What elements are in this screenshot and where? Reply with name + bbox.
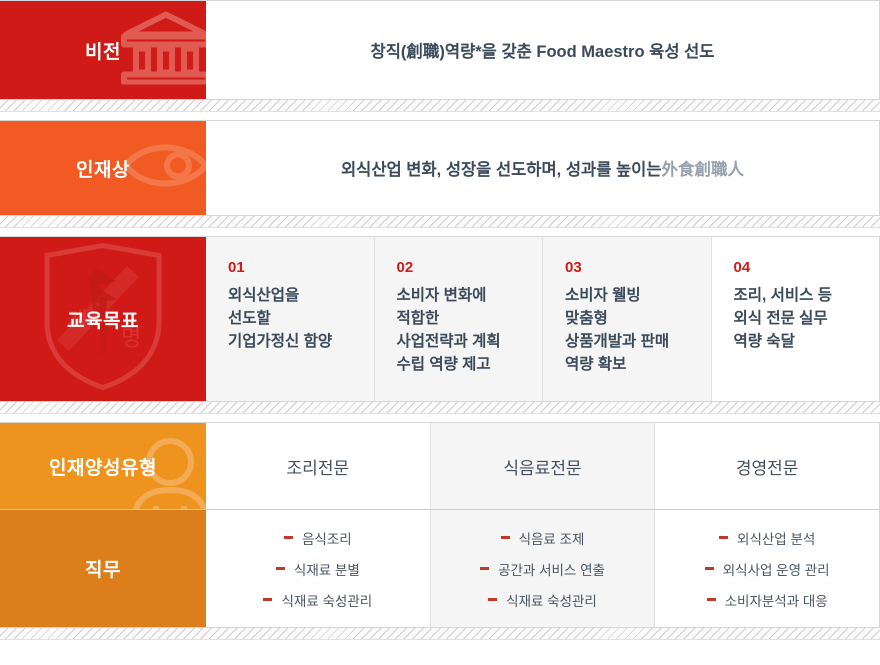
talent-profile-row: 인재상 외식산업 변화, 성장을 선도하며, 성과를 높이는 外食創職人 [0, 120, 880, 216]
duty-item: 소비자분석과 대응 [707, 590, 828, 610]
types-and-duties-block: 인재양성유형 조리전문 식음료전문 경영전문 직무 [0, 422, 880, 628]
bank-building-icon [120, 11, 206, 90]
dash-bullet-icon [705, 567, 714, 570]
vision-row: 비전 창직(創職)역량*을 갖춘 Food Maestro 육성 선도 [0, 0, 880, 100]
competency-framework-diagram: 비전 창직(創職)역량*을 갖춘 Food Maestro 육성 선도 인재상 … [0, 0, 880, 665]
education-goals-row: 계 명 교육목표 01 외식산업을 선도할 기업가정신 함양 02 소비자 변화… [0, 236, 880, 402]
talent-types-row: 인재양성유형 조리전문 식음료전문 경영전문 [0, 423, 879, 509]
talent-types-label-cell: 인재양성유형 [0, 423, 206, 509]
duties-row: 직무 음식조리 식재료 분별 식재료 숙성관리 [0, 509, 879, 627]
education-goals-label: 교육목표 [67, 306, 139, 333]
education-goals-label-cell: 계 명 교육목표 [0, 237, 206, 401]
talent-type-label: 조리전문 [287, 454, 350, 479]
talent-profile-statement-text: 외식산업 변화, 성장을 선도하며, 성과를 높이는 [341, 156, 662, 180]
goal-number: 01 [228, 259, 358, 276]
talent-types-list: 조리전문 식음료전문 경영전문 [206, 423, 879, 509]
dash-bullet-icon [719, 536, 728, 539]
vision-label: 비전 [85, 37, 121, 64]
row-separator-hatch-3 [0, 402, 880, 414]
talent-type-cell: 경영전문 [655, 423, 879, 509]
goal-text: 조리, 서비스 등 외식 전문 실무 역량 숙달 [734, 285, 864, 354]
dash-bullet-icon [284, 536, 293, 539]
talent-profile-label-cell: 인재상 [0, 121, 206, 215]
dash-bullet-icon [488, 598, 497, 601]
talent-type-label: 식음료전문 [503, 454, 581, 479]
duty-label: 식음료 조제 [519, 528, 585, 548]
talent-profile-statement-hanja: 外食創職人 [662, 156, 745, 180]
duty-label: 식재료 숙성관리 [281, 590, 372, 610]
talent-type-cell: 조리전문 [206, 423, 431, 509]
duty-column: 외식산업 분석 외식사업 운영 관리 소비자분석과 대응 [655, 510, 879, 627]
duty-label: 소비자분석과 대응 [725, 590, 828, 610]
duty-item: 음식조리 [284, 528, 352, 548]
duty-label: 식재료 분별 [294, 559, 360, 579]
talent-profile-statement: 외식산업 변화, 성장을 선도하며, 성과를 높이는 外食創職人 [206, 121, 879, 215]
duties-label: 직무 [85, 555, 121, 582]
goal-text: 소비자 변화에 적합한 사업전략과 계획 수립 역량 제고 [397, 285, 527, 377]
duty-column: 식음료 조제 공간과 서비스 연출 식재료 숙성관리 [431, 510, 656, 627]
duty-item: 공간과 서비스 연출 [480, 559, 605, 579]
education-goals-list: 01 외식산업을 선도할 기업가정신 함양 02 소비자 변화에 적합한 사업전… [206, 237, 879, 401]
dash-bullet-icon [480, 567, 489, 570]
duty-label: 외식사업 운영 관리 [723, 559, 830, 579]
row-gap-2 [0, 228, 880, 236]
duty-label: 음식조리 [302, 528, 352, 548]
goal-item: 03 소비자 웰빙 맞춤형 상품개발과 판매 역량 확보 [543, 237, 712, 401]
duty-label: 공간과 서비스 연출 [498, 559, 605, 579]
goal-item: 04 조리, 서비스 등 외식 전문 실무 역량 숙달 [712, 237, 880, 401]
duty-item: 식음료 조제 [501, 528, 585, 548]
vision-label-cell: 비전 [0, 1, 206, 99]
goal-item: 02 소비자 변화에 적합한 사업전략과 계획 수립 역량 제고 [375, 237, 544, 401]
duty-label: 식재료 숙성관리 [506, 590, 597, 610]
goal-text: 소비자 웰빙 맞춤형 상품개발과 판매 역량 확보 [565, 285, 695, 377]
dash-bullet-icon [501, 536, 510, 539]
dash-bullet-icon [707, 598, 716, 601]
goal-number: 04 [734, 259, 864, 276]
goal-number: 02 [397, 259, 527, 276]
duty-item: 외식산업 분석 [719, 528, 815, 548]
goal-number: 03 [565, 259, 695, 276]
duty-item: 외식사업 운영 관리 [705, 559, 830, 579]
duty-label: 외식산업 분석 [737, 528, 815, 548]
duties-list: 음식조리 식재료 분별 식재료 숙성관리 식음료 조제 [206, 510, 879, 627]
vision-statement: 창직(創職)역량*을 갖춘 Food Maestro 육성 선도 [206, 1, 879, 99]
eye-icon [120, 135, 206, 202]
dash-bullet-icon [276, 567, 285, 570]
goal-item: 01 외식산업을 선도할 기업가정신 함양 [206, 237, 375, 401]
dash-bullet-icon [263, 598, 272, 601]
talent-type-cell: 식음료전문 [431, 423, 656, 509]
vision-statement-text: 창직(創職)역량*을 갖춘 Food Maestro 육성 선도 [371, 38, 715, 62]
row-separator-hatch-1 [0, 100, 880, 112]
talent-type-label: 경영전문 [736, 454, 799, 479]
row-separator-hatch-2 [0, 216, 880, 228]
talent-profile-label: 인재상 [76, 155, 130, 182]
row-gap-3 [0, 414, 880, 422]
goal-text: 외식산업을 선도할 기업가정신 함양 [228, 285, 358, 354]
duty-column: 음식조리 식재료 분별 식재료 숙성관리 [206, 510, 431, 627]
row-gap-1 [0, 112, 880, 120]
duty-item: 식재료 분별 [276, 559, 360, 579]
duties-label-cell: 직무 [0, 510, 206, 627]
talent-types-label: 인재양성유형 [49, 453, 157, 480]
duty-item: 식재료 숙성관리 [263, 590, 372, 610]
row-separator-hatch-4 [0, 628, 880, 640]
duty-item: 식재료 숙성관리 [488, 590, 597, 610]
